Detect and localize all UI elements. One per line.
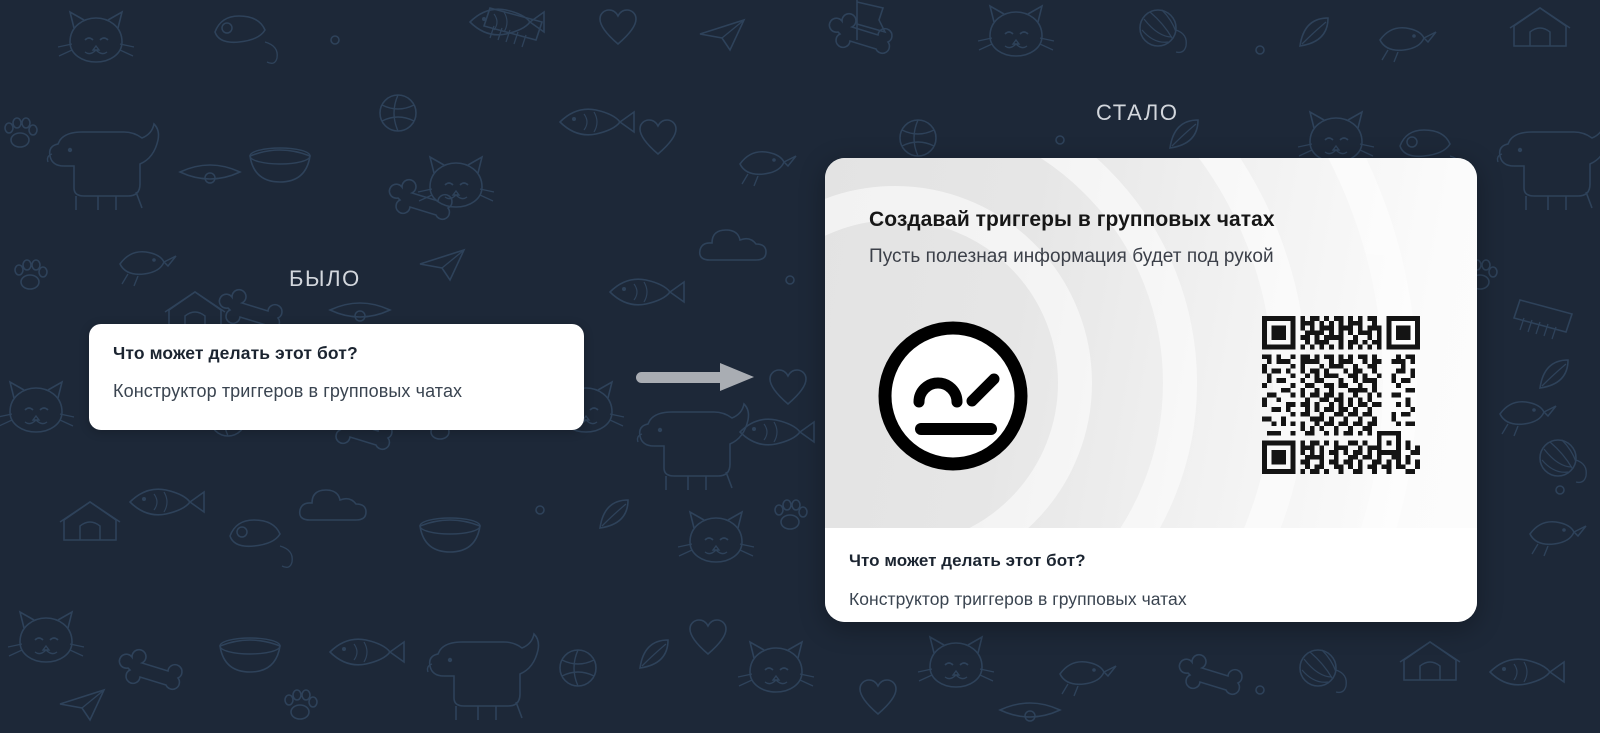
after-card-title: Что может делать этот бот? xyxy=(849,551,1453,571)
winking-flat-face-icon xyxy=(873,316,1033,476)
media-panel-subtitle: Пусть полезная информация будет под руко… xyxy=(869,246,1274,268)
after-card-subtitle: Конструктор триггеров в групповых чатах xyxy=(849,589,1453,610)
before-card-title: Что может делать этот бот? xyxy=(113,343,560,364)
transition-arrow-icon xyxy=(636,363,756,391)
bot-intro-media-panel: Создавай триггеры в групповых чатах Пуст… xyxy=(825,158,1477,528)
media-panel-title: Создавай триггеры в групповых чатах xyxy=(869,208,1275,232)
after-bot-description-card: Создавай триггеры в групповых чатах Пуст… xyxy=(825,158,1477,622)
before-column-label: БЫЛО xyxy=(289,266,361,292)
bot-description-body: Что может делать этот бот? Конструктор т… xyxy=(825,528,1477,622)
before-bot-description-card: Что может делать этот бот? Конструктор т… xyxy=(89,324,584,430)
qr-code[interactable] xyxy=(1262,316,1420,474)
comparison-stage: БЫЛО Что может делать этот бот? Конструк… xyxy=(0,0,1600,733)
after-column-label: СТАЛО xyxy=(1096,100,1179,126)
before-card-subtitle: Конструктор триггеров в групповых чатах xyxy=(113,381,560,402)
